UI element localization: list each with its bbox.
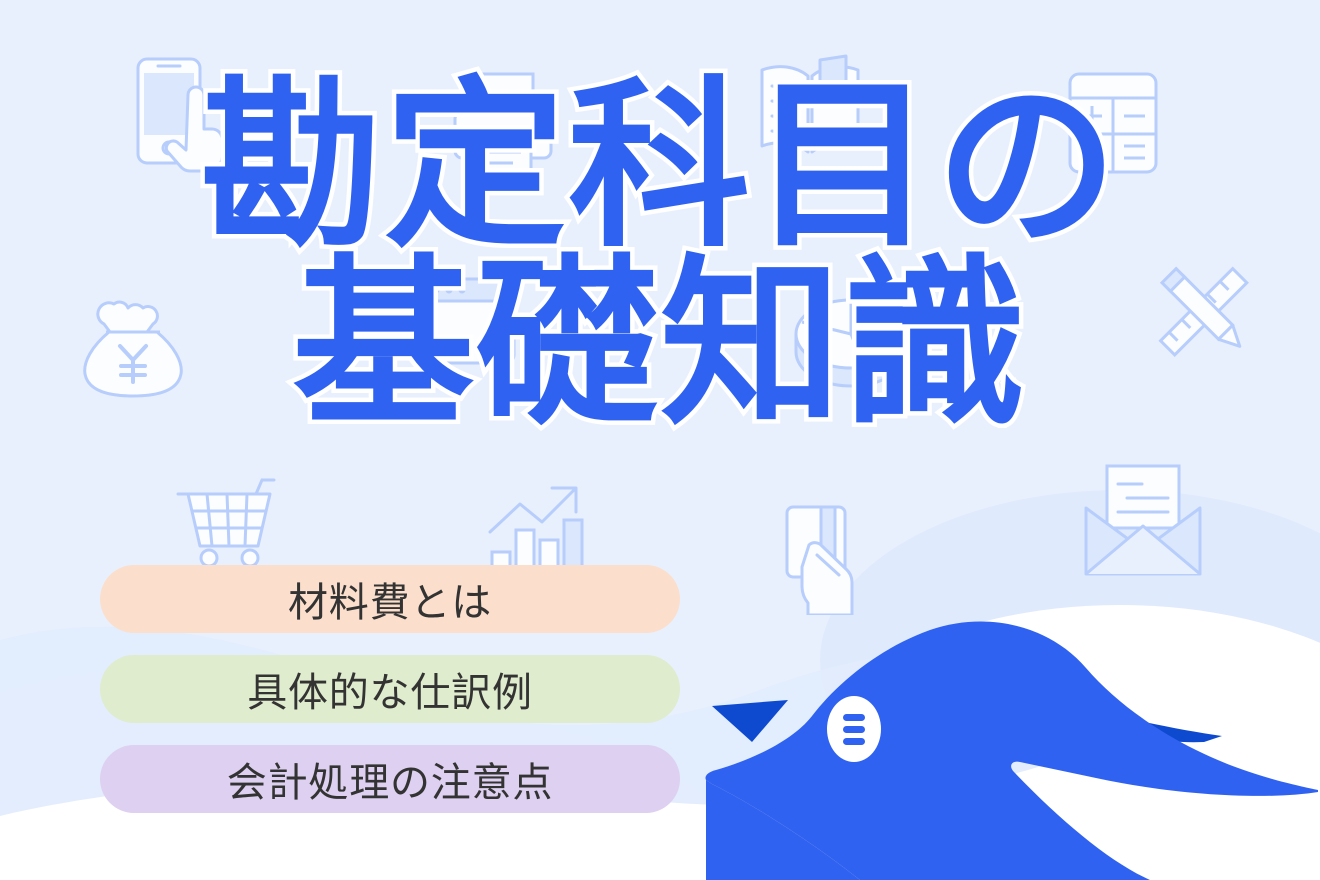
smartphone-hand-icon	[132, 55, 228, 181]
ruler-pencil-icon	[1148, 256, 1258, 366]
hand-credit-card-icon	[783, 503, 873, 615]
pill-label: 会計処理の注意点	[227, 750, 553, 808]
open-envelope-mail-icon	[1080, 462, 1206, 578]
printer-document-icon	[445, 68, 565, 188]
money-bag-yen-icon	[80, 298, 188, 402]
open-book-icon	[756, 52, 864, 164]
pill-journal-entry-examples[interactable]: 具体的な仕訳例	[100, 655, 680, 723]
topic-pill-list: 材料費とは 具体的な仕訳例 会計処理の注意点	[100, 565, 685, 835]
browser-window-icon	[418, 275, 518, 367]
shopping-cart-icon	[176, 476, 276, 568]
pill-material-cost[interactable]: 材料費とは	[100, 565, 680, 633]
pie-chart-3d-icon	[792, 282, 910, 396]
bar-chart-growth-icon	[486, 480, 590, 572]
calculator-icon	[1066, 70, 1162, 176]
hero-banner: 勘定科目の 基礎知識 材料費とは 具体的な仕訳例 会計処理の注意点	[0, 0, 1320, 880]
pill-label: 材料費とは	[288, 570, 492, 628]
pill-accounting-notes[interactable]: 会計処理の注意点	[100, 745, 680, 813]
pill-label: 具体的な仕訳例	[247, 660, 533, 718]
